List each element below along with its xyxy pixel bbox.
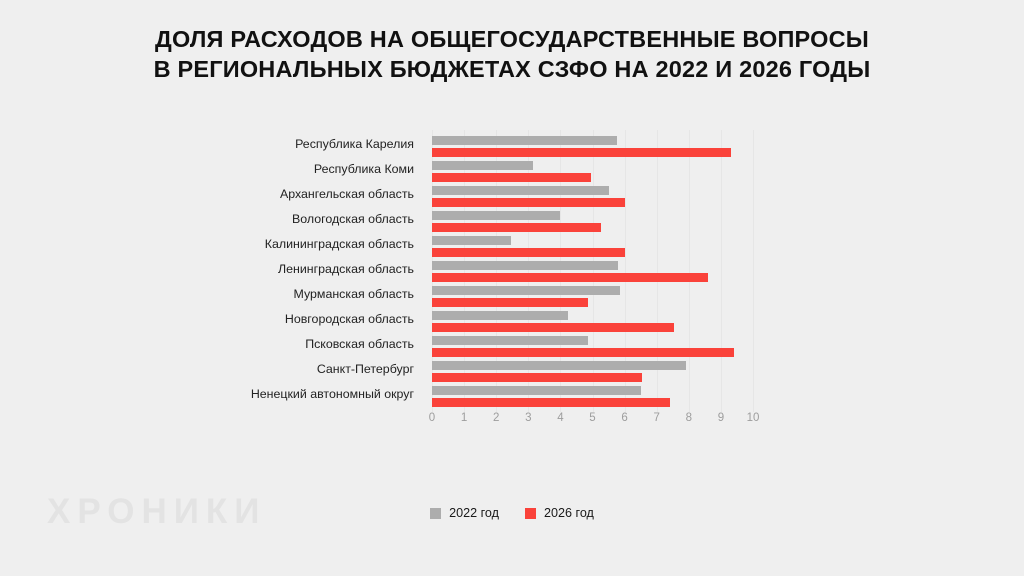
chart-row: Мурманская область — [0, 283, 1024, 308]
bar-2022 — [432, 161, 533, 170]
bar-2022 — [432, 286, 620, 295]
x-tick-label: 1 — [461, 412, 467, 424]
x-tick-label: 7 — [653, 412, 659, 424]
chart-row: Вологодская область — [0, 208, 1024, 233]
category-label: Ненецкий автономный округ — [84, 387, 414, 401]
bar-2022 — [432, 336, 588, 345]
legend-swatch-icon — [525, 508, 536, 519]
category-label: Республика Карелия — [84, 137, 414, 151]
x-tick-label: 6 — [621, 412, 627, 424]
category-label: Псковская область — [84, 337, 414, 351]
category-label: Ленинградская область — [84, 262, 414, 276]
chart-row: Калининградская область — [0, 233, 1024, 258]
chart-row: Республика Коми — [0, 158, 1024, 183]
chart-row: Архангельская область — [0, 183, 1024, 208]
category-label: Республика Коми — [84, 162, 414, 176]
chart-row: Псковская область — [0, 333, 1024, 358]
chart-row: Ленинградская область — [0, 258, 1024, 283]
bar-2026 — [432, 248, 625, 257]
watermark: ХРОНИКИ — [47, 492, 266, 532]
category-label: Новгородская область — [84, 312, 414, 326]
x-tick-label: 10 — [747, 412, 760, 424]
legend-label: 2022 год — [449, 506, 499, 520]
x-tick-label: 5 — [589, 412, 595, 424]
chart-row: Санкт-Петербург — [0, 358, 1024, 383]
x-tick-label: 2 — [493, 412, 499, 424]
bar-2022 — [432, 136, 617, 145]
bar-2026 — [432, 223, 601, 232]
bar-2026 — [432, 348, 734, 357]
bar-2026 — [432, 198, 625, 207]
chart-row: Республика Карелия — [0, 133, 1024, 158]
x-tick-label: 0 — [429, 412, 435, 424]
bar-2022 — [432, 186, 609, 195]
bar-2026 — [432, 273, 708, 282]
bar-2022 — [432, 236, 511, 245]
category-label: Калининградская область — [84, 237, 414, 251]
category-label: Вологодская область — [84, 212, 414, 226]
legend-item[interactable]: 2022 год — [430, 506, 499, 520]
bar-2026 — [432, 173, 591, 182]
bar-2022 — [432, 386, 641, 395]
legend-label: 2026 год — [544, 506, 594, 520]
bar-2026 — [432, 323, 674, 332]
bar-2022 — [432, 361, 686, 370]
bar-2026 — [432, 148, 731, 157]
bar-2022 — [432, 311, 568, 320]
bar-2026 — [432, 298, 588, 307]
chart-row: Новгородская область — [0, 308, 1024, 333]
legend-item[interactable]: 2026 год — [525, 506, 594, 520]
x-tick-label: 4 — [557, 412, 563, 424]
x-axis: 012345678910 — [432, 412, 762, 430]
bar-2026 — [432, 373, 642, 382]
category-label: Санкт-Петербург — [84, 362, 414, 376]
bar-2022 — [432, 211, 560, 220]
bar-2026 — [432, 398, 670, 407]
chart-row: Ненецкий автономный округ — [0, 383, 1024, 408]
x-tick-label: 8 — [686, 412, 692, 424]
bar-2022 — [432, 261, 618, 270]
category-label: Мурманская область — [84, 287, 414, 301]
x-tick-label: 9 — [718, 412, 724, 424]
bar-chart: Республика КарелияРеспублика КомиАрханге… — [0, 0, 1024, 576]
x-tick-label: 3 — [525, 412, 531, 424]
legend-swatch-icon — [430, 508, 441, 519]
category-label: Архангельская область — [84, 187, 414, 201]
